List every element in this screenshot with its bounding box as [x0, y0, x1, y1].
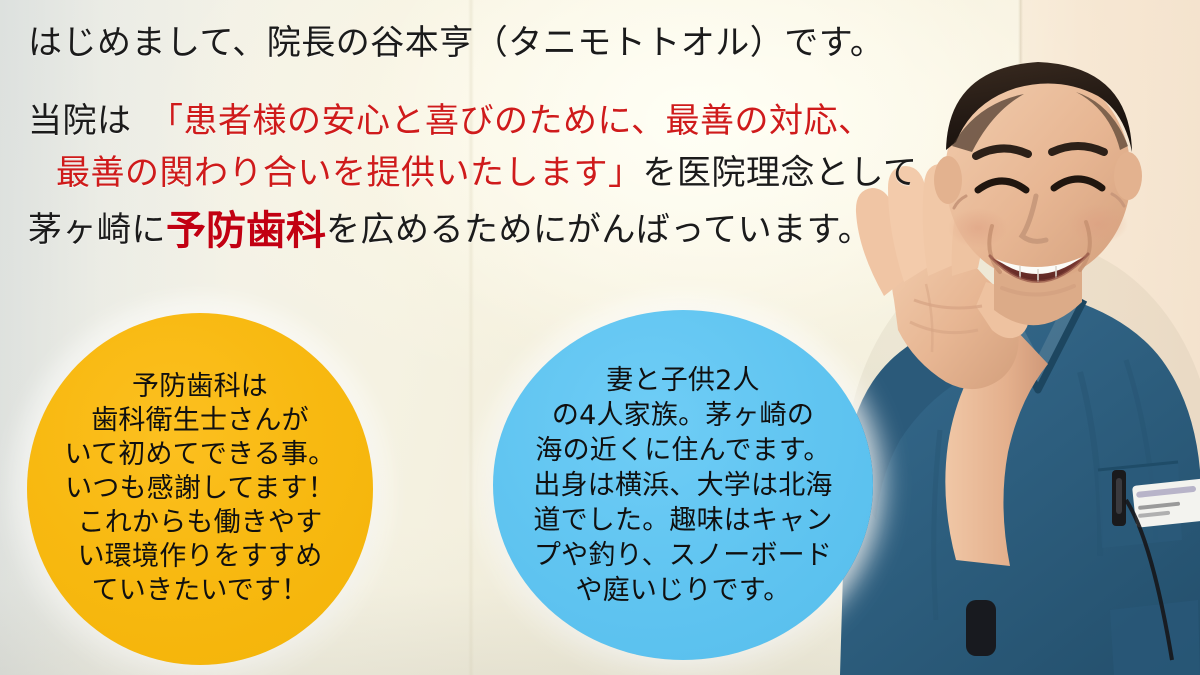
headline-line-4-prefix: 茅ヶ崎に	[28, 210, 166, 250]
headline-line-2-quote: 「患者様の安心と喜びのために、最善の対応、	[166, 101, 872, 141]
bubble-yellow-text: 予防歯科は 歯科衛生士さんが いて初めてできる事。 いつも感謝してます！ これか…	[57, 370, 344, 608]
headline-line-3: 最善の関わり合いを提供いたします」を医院理念として	[56, 156, 917, 190]
bubble-yellow: 予防歯科は 歯科衛生士さんが いて初めてできる事。 いつも感謝してます！ これか…	[27, 313, 373, 665]
headline-line-2-prefix: 当院は	[28, 101, 166, 141]
headline-line-4-suffix: を広めるためにがんばっています。	[326, 210, 872, 250]
headline-line-3-suffix: を医院理念として	[643, 153, 918, 193]
headline-emphasis-preventive-dentistry: 予防歯科	[166, 208, 326, 254]
slide-canvas: はじめまして、院長の谷本亨（タニモトトオル）です。 当院は 「患者様の安心と喜び…	[0, 0, 1200, 675]
headline-line-2: 当院は 「患者様の安心と喜びのために、最善の対応、	[28, 104, 872, 138]
headline-line-3-quote: 最善の関わり合いを提供いたします」	[56, 153, 643, 193]
bubble-blue: 妻と子供2人 の4人家族。茅ヶ崎の 海の近くに住んでます。 出身は横浜、大学は北…	[493, 310, 873, 660]
headline-line-4: 茅ヶ崎に予防歯科を広めるためにがんばっています。	[28, 208, 872, 248]
headline-line-1: はじめまして、院長の谷本亨（タニモトトオル）です。	[28, 26, 884, 60]
bubble-blue-text: 妻と子供2人 の4人家族。茅ヶ崎の 海の近くに住んでます。 出身は横浜、大学は北…	[525, 363, 840, 608]
